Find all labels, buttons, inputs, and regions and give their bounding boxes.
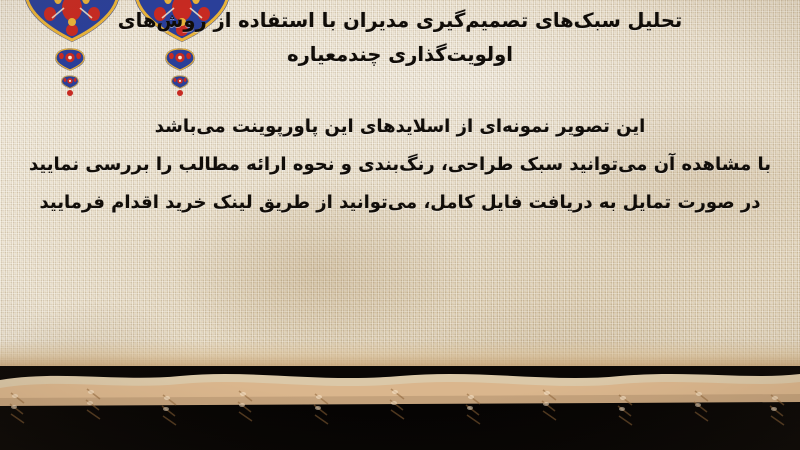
slide-title-line-2: اولویت‌گذاری چندمعیاره bbox=[0, 38, 800, 72]
slide-body-line-1: این تصویر نمونه‌ای از اسلایدهای این پاور… bbox=[0, 108, 800, 146]
slide-body-line-3: در صورت تمایل به دریافت فایل کامل، می‌تو… bbox=[0, 184, 800, 222]
slide-title: تحلیل سبک‌های تصمیم‌گیری مدیران با استفا… bbox=[0, 4, 800, 72]
slide-canvas: تحلیل سبک‌های تصمیم‌گیری مدیران با استفا… bbox=[0, 0, 800, 450]
slide-body-line-2: با مشاهده آن می‌توانید سبک طراحی، رنگ‌بن… bbox=[0, 146, 800, 184]
slide-title-line-1: تحلیل سبک‌های تصمیم‌گیری مدیران با استفا… bbox=[0, 4, 800, 38]
knotted-tassel-fringe-icon bbox=[0, 350, 800, 450]
slide-body: این تصویر نمونه‌ای از اسلایدهای این پاور… bbox=[0, 108, 800, 222]
